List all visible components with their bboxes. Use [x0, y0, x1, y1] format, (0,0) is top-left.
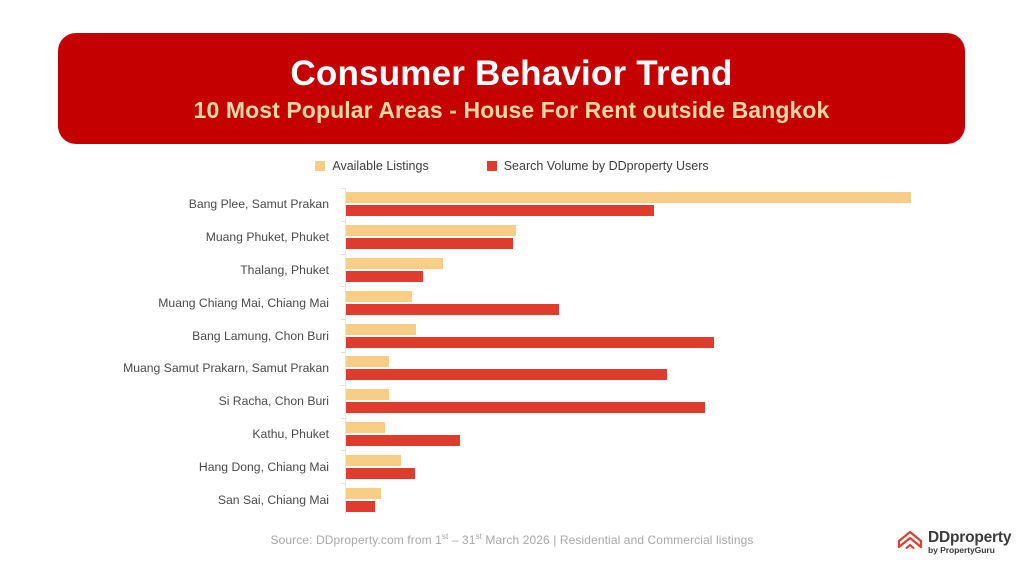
chart-row: Bang Lamung, Chon Buri [0, 319, 1024, 352]
legend-swatch-icon [315, 161, 325, 171]
source-text-mid: – 31 [448, 533, 475, 547]
title-banner: Consumer Behavior Trend 10 Most Popular … [58, 33, 965, 144]
axis-tick [341, 286, 345, 287]
category-label: San Sai, Chiang Mai [0, 483, 337, 516]
bar-available-listings[interactable] [346, 291, 412, 302]
category-label: Muang Phuket, Phuket [0, 221, 337, 254]
legend-swatch-icon [487, 161, 497, 171]
bar-available-listings[interactable] [346, 225, 516, 236]
category-label: Hang Dong, Chiang Mai [0, 450, 337, 483]
chart-row: San Sai, Chiang Mai [0, 483, 1024, 516]
category-label: Thalang, Phuket [0, 254, 337, 287]
bar-available-listings[interactable] [346, 258, 443, 269]
bar-group [346, 450, 1006, 483]
bar-group [346, 385, 1006, 418]
bar-available-listings[interactable] [346, 324, 416, 335]
legend-item-search-volume[interactable]: Search Volume by DDproperty Users [487, 159, 709, 173]
source-note: Source: DDproperty.com from 1st – 31st M… [0, 532, 1024, 547]
axis-tick [341, 418, 345, 419]
bar-group [346, 221, 1006, 254]
chart-row: Hang Dong, Chiang Mai [0, 450, 1024, 483]
chart-row: Si Racha, Chon Buri [0, 385, 1024, 418]
axis-tick [341, 188, 345, 189]
chart-legend: Available Listings Search Volume by DDpr… [0, 159, 1024, 173]
logo-brand-name: DDproperty [928, 530, 1011, 546]
category-label: Bang Lamung, Chon Buri [0, 319, 337, 352]
chart-row: Bang Plee, Samut Prakan [0, 188, 1024, 221]
axis-tick [341, 254, 345, 255]
chart-row: Muang Samut Prakarn, Samut Prakan [0, 352, 1024, 385]
page-subtitle: 10 Most Popular Areas - House For Rent o… [194, 97, 830, 123]
bar-available-listings[interactable] [346, 389, 389, 400]
bar-group [346, 254, 1006, 287]
bar-group [346, 418, 1006, 451]
bar-search-volume[interactable] [346, 205, 654, 216]
bar-available-listings[interactable] [346, 422, 385, 433]
chart-row: Thalang, Phuket [0, 254, 1024, 287]
bar-search-volume[interactable] [346, 402, 705, 413]
category-label: Muang Chiang Mai, Chiang Mai [0, 286, 337, 319]
legend-label: Available Listings [332, 159, 428, 173]
roof-chevron-icon [897, 528, 923, 557]
category-label: Bang Plee, Samut Prakan [0, 188, 337, 221]
bar-group [346, 319, 1006, 352]
category-label: Muang Samut Prakarn, Samut Prakan [0, 352, 337, 385]
page-title: Consumer Behavior Trend [290, 54, 732, 94]
source-text-prefix: Source: DDproperty.com from 1 [271, 533, 442, 547]
logo-text-block: DDproperty by PropertyGuru [928, 530, 1011, 555]
axis-tick [341, 352, 345, 353]
source-text-suffix: March 2026 | Residential and Commercial … [482, 533, 753, 547]
legend-item-available-listings[interactable]: Available Listings [315, 159, 428, 173]
bar-available-listings[interactable] [346, 192, 911, 203]
axis-tick [341, 483, 345, 484]
bar-search-volume[interactable] [346, 271, 423, 282]
chart-row: Muang Chiang Mai, Chiang Mai [0, 286, 1024, 319]
logo-tagline: by PropertyGuru [928, 546, 1011, 555]
chart-row: Kathu, Phuket [0, 418, 1024, 451]
chart-row: Muang Phuket, Phuket [0, 221, 1024, 254]
bar-search-volume[interactable] [346, 238, 513, 249]
bar-available-listings[interactable] [346, 455, 401, 466]
chart-rows: Bang Plee, Samut PrakanMuang Phuket, Phu… [0, 188, 1024, 516]
bar-group [346, 352, 1006, 385]
bar-group [346, 188, 1006, 221]
ddproperty-logo[interactable]: DDproperty by PropertyGuru [897, 528, 1011, 557]
axis-tick [341, 385, 345, 386]
bar-group [346, 286, 1006, 319]
bar-search-volume[interactable] [346, 337, 714, 348]
bar-available-listings[interactable] [346, 356, 389, 367]
bar-search-volume[interactable] [346, 501, 375, 512]
bar-search-volume[interactable] [346, 304, 559, 315]
category-label: Kathu, Phuket [0, 418, 337, 451]
bar-search-volume[interactable] [346, 435, 460, 446]
axis-tick [341, 450, 345, 451]
axis-tick [341, 221, 345, 222]
bar-chart: Bang Plee, Samut PrakanMuang Phuket, Phu… [0, 188, 1024, 518]
legend-label: Search Volume by DDproperty Users [504, 159, 709, 173]
axis-tick [341, 319, 345, 320]
bar-search-volume[interactable] [346, 369, 667, 380]
bar-available-listings[interactable] [346, 488, 381, 499]
bar-search-volume[interactable] [346, 468, 415, 479]
bar-group [346, 483, 1006, 516]
category-label: Si Racha, Chon Buri [0, 385, 337, 418]
